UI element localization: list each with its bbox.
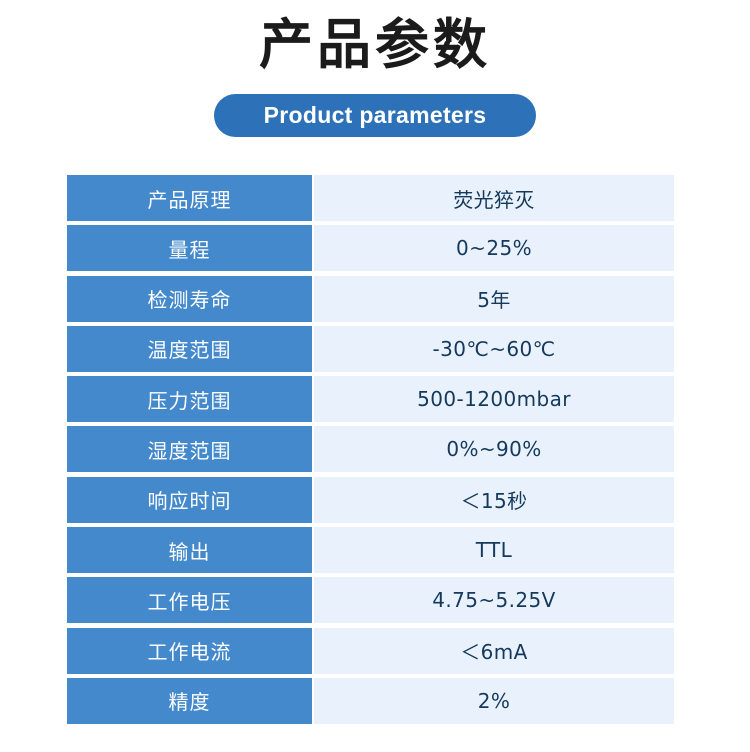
table-row: 检测寿命 5年 [67, 276, 674, 322]
spec-label: 量程 [67, 225, 312, 271]
table-row: 湿度范围 0%~90% [67, 426, 674, 472]
subtitle-pill: Product parameters [214, 94, 536, 137]
table-row: 工作电压 4.75~5.25V [67, 577, 674, 623]
spec-value: 500-1200mbar [314, 376, 674, 422]
spec-value: 2% [314, 678, 674, 724]
spec-value: ＜15秒 [314, 477, 674, 523]
table-row: 响应时间 ＜15秒 [67, 477, 674, 523]
spec-value: 5年 [314, 276, 674, 322]
spec-value: ＜6mA [314, 628, 674, 674]
spec-value: 0%~90% [314, 426, 674, 472]
page-title: 产品参数 [0, 14, 750, 76]
table-row: 产品原理 荧光猝灭 [67, 175, 674, 221]
table-row: 输出 TTL [67, 527, 674, 573]
table-row: 工作电流 ＜6mA [67, 628, 674, 674]
spec-label: 工作电流 [67, 628, 312, 674]
spec-value: -30℃~60℃ [314, 326, 674, 372]
spec-label: 响应时间 [67, 477, 312, 523]
spec-label: 温度范围 [67, 326, 312, 372]
spec-label: 工作电压 [67, 577, 312, 623]
product-parameters-page: 产品参数 Product parameters 产品原理 荧光猝灭 量程 0~2… [0, 0, 750, 752]
spec-label: 产品原理 [67, 175, 312, 221]
subtitle-pill-container: Product parameters [0, 94, 750, 137]
table-row: 量程 0~25% [67, 225, 674, 271]
spec-value: 0~25% [314, 225, 674, 271]
spec-label: 检测寿命 [67, 276, 312, 322]
spec-label: 湿度范围 [67, 426, 312, 472]
spec-label: 精度 [67, 678, 312, 724]
spec-value: 荧光猝灭 [314, 175, 674, 221]
page-header: 产品参数 Product parameters [0, 0, 750, 137]
spec-label: 输出 [67, 527, 312, 573]
spec-label: 压力范围 [67, 376, 312, 422]
table-row: 精度 2% [67, 678, 674, 724]
spec-value: TTL [314, 527, 674, 573]
table-row: 压力范围 500-1200mbar [67, 376, 674, 422]
spec-table: 产品原理 荧光猝灭 量程 0~25% 检测寿命 5年 温度范围 -30℃~60℃… [67, 175, 674, 728]
table-row: 温度范围 -30℃~60℃ [67, 326, 674, 372]
spec-value: 4.75~5.25V [314, 577, 674, 623]
